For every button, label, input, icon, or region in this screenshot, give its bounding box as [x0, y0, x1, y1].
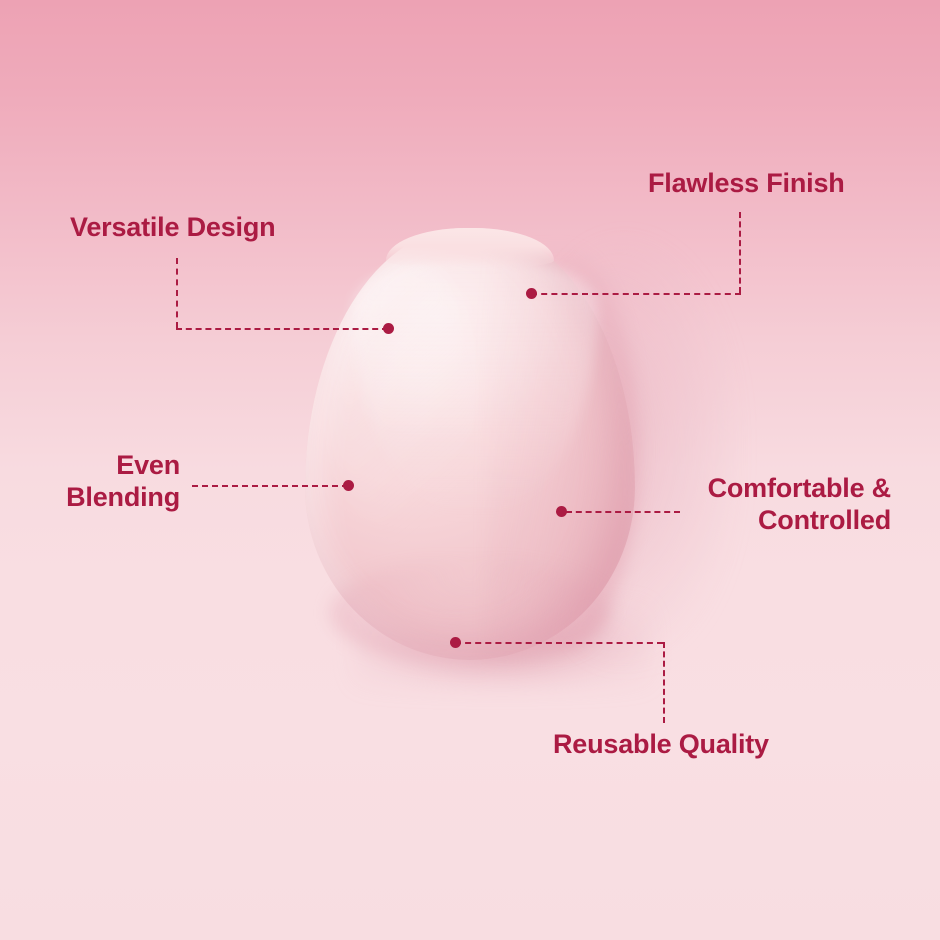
connector-reusable-quality-vertical [663, 642, 665, 723]
connector-flawless-finish-vertical [739, 212, 741, 293]
callout-dot-even-blending [343, 480, 354, 491]
connector-reusable-quality-horizontal [455, 642, 663, 644]
sponge-bottom-shading [330, 560, 610, 665]
callout-dot-reusable-quality [450, 637, 461, 648]
connector-flawless-finish-horizontal [531, 293, 741, 295]
connector-even-blending-horizontal [192, 485, 348, 487]
connector-versatile-design-vertical [176, 258, 178, 328]
callout-label-comfortable-controlled: Comfortable & Controlled [681, 473, 891, 537]
callout-label-flawless-finish: Flawless Finish [648, 168, 845, 200]
connector-versatile-design-horizontal [176, 328, 388, 330]
callout-dot-flawless-finish [526, 288, 537, 299]
callout-dot-versatile-design [383, 323, 394, 334]
callout-label-even-blending: Even Blending [48, 450, 180, 514]
callout-label-versatile-design: Versatile Design [70, 212, 275, 244]
callout-label-reusable-quality: Reusable Quality [553, 729, 769, 761]
connector-comfortable-controlled-horizontal [566, 511, 680, 513]
sponge-flat-top [386, 228, 554, 268]
callout-dot-comfortable-controlled [556, 506, 567, 517]
product-feature-infographic: Versatile Design Flawless Finish Even Bl… [0, 0, 940, 940]
